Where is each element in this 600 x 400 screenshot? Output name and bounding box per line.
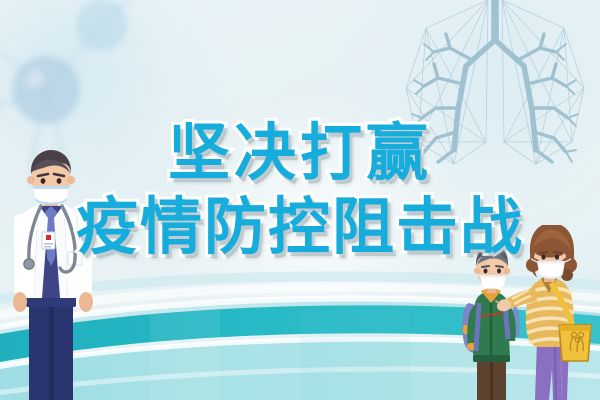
character-boy — [462, 245, 520, 400]
boy-leg-left — [477, 357, 490, 400]
poster-canvas: 坚决打赢 疫情防控阻击战 — [0, 0, 600, 400]
doctor-hand-left — [13, 292, 27, 312]
boy-face-mask-icon — [474, 273, 512, 289]
lung-wireframe-icon — [380, 0, 600, 182]
doctor-leg-left — [29, 298, 49, 400]
doctor-leg-right — [53, 298, 73, 400]
mother-shoulder-bag — [559, 325, 591, 361]
doctor-hand-right — [79, 292, 93, 312]
doctor-id-badge — [42, 232, 55, 249]
character-group-mother-and-boy — [455, 225, 600, 400]
stethoscope-chestpiece — [24, 259, 34, 269]
boy-leg-right — [493, 357, 506, 400]
character-doctor — [0, 148, 108, 400]
